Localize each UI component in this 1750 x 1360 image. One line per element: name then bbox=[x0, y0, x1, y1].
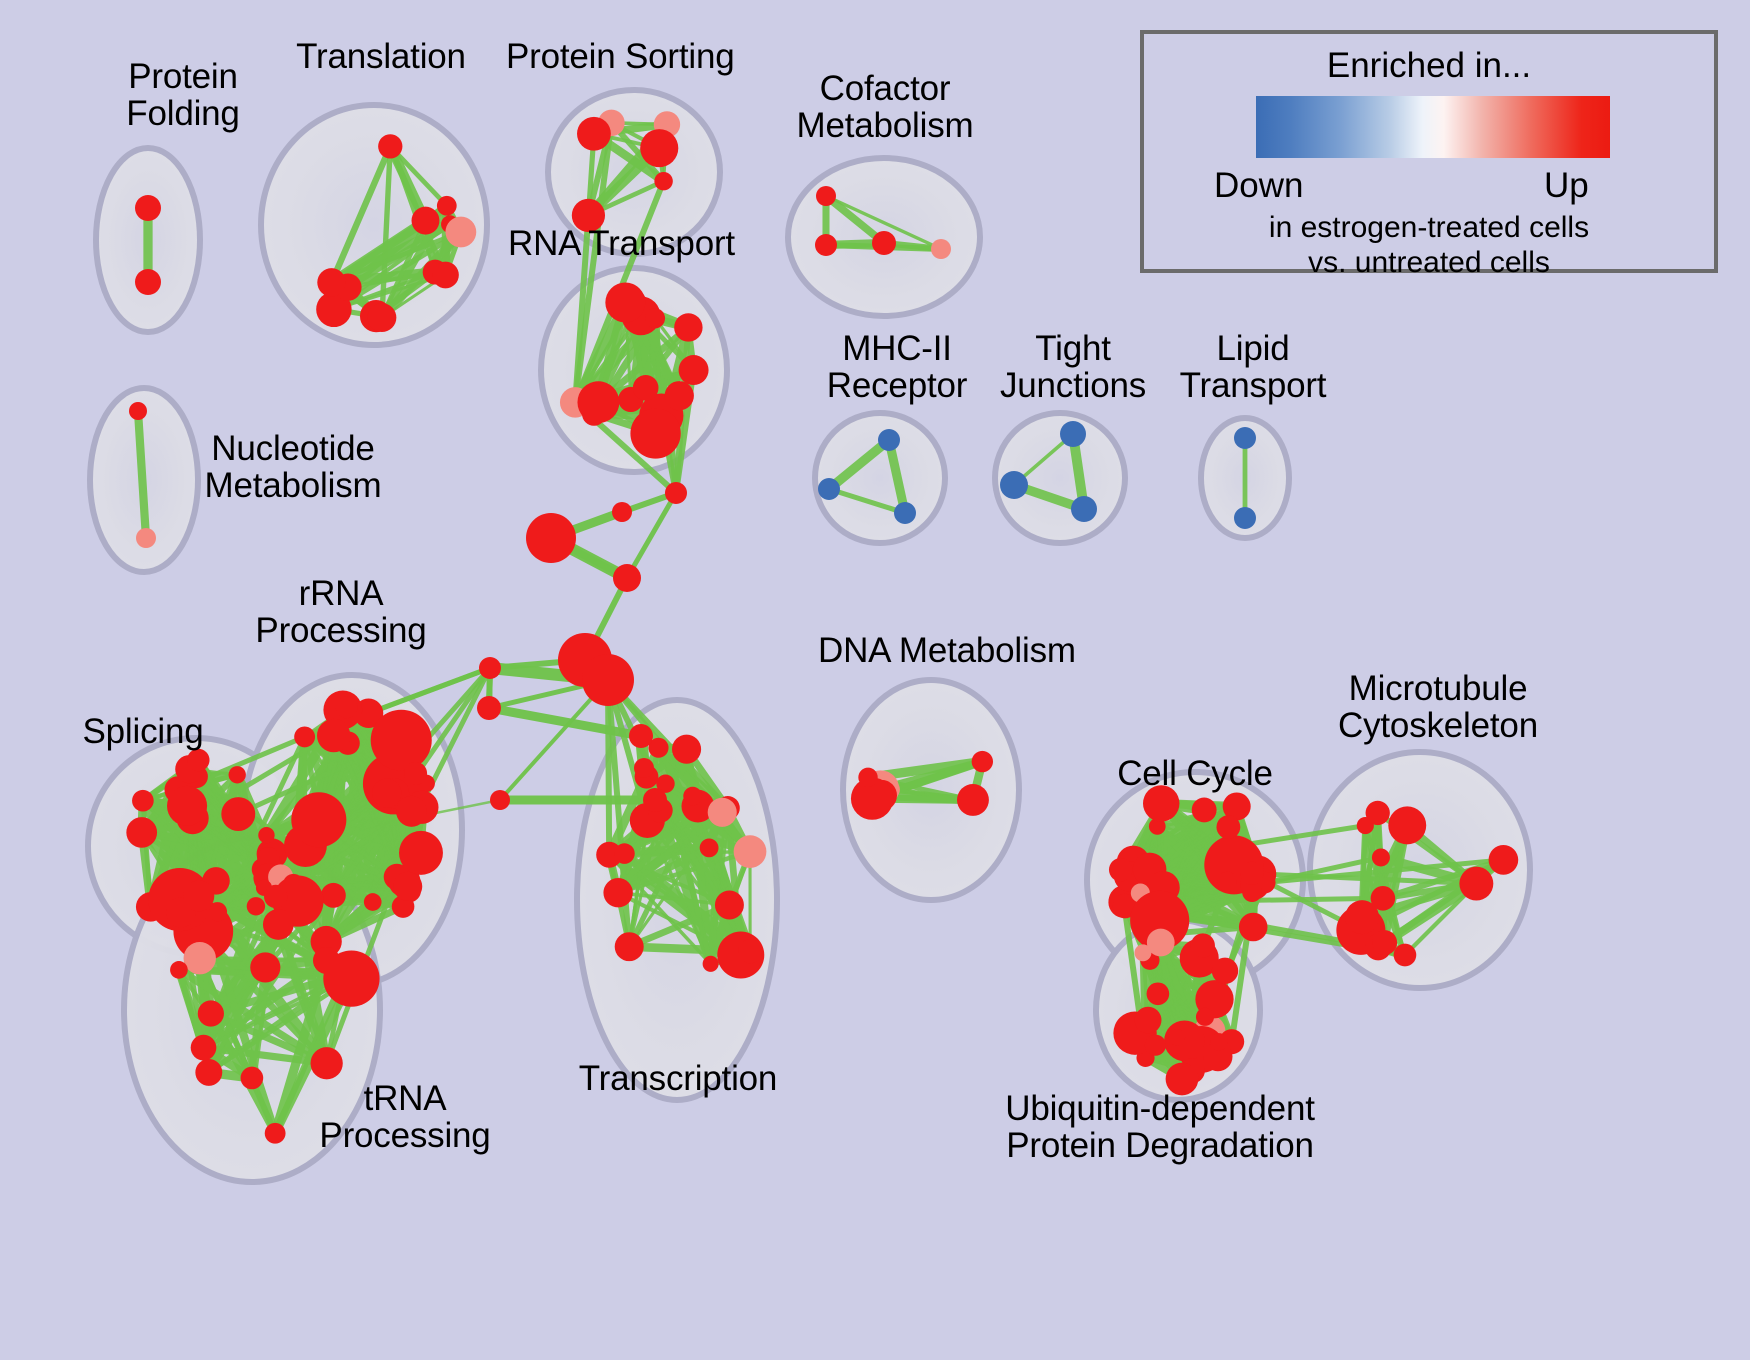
network-node bbox=[291, 792, 346, 847]
network-node bbox=[412, 207, 440, 235]
network-node bbox=[265, 1123, 286, 1144]
network-node bbox=[132, 790, 154, 812]
network-node bbox=[195, 1059, 222, 1086]
network-node bbox=[126, 817, 157, 848]
network-node bbox=[1240, 862, 1263, 885]
network-node bbox=[708, 798, 737, 827]
network-node bbox=[399, 831, 443, 875]
network-node bbox=[633, 375, 659, 401]
network-node bbox=[1216, 815, 1240, 839]
network-node bbox=[317, 268, 346, 297]
cluster-label-cofactor-metabolism: Cofactor Metabolism bbox=[790, 70, 980, 144]
network-node bbox=[645, 308, 665, 328]
network-node bbox=[1210, 1033, 1227, 1050]
network-node bbox=[679, 355, 709, 385]
network-node bbox=[1191, 933, 1215, 957]
network-node bbox=[1147, 982, 1170, 1005]
network-node bbox=[577, 117, 611, 151]
network-node bbox=[167, 786, 207, 826]
network-node bbox=[1218, 872, 1237, 891]
network-node bbox=[1169, 1029, 1185, 1045]
network-node bbox=[136, 528, 156, 548]
cluster-label-rrna-processing: rRNA Processing bbox=[246, 575, 436, 649]
network-node bbox=[1212, 958, 1238, 984]
network-node bbox=[1234, 507, 1256, 529]
network-node bbox=[1242, 882, 1262, 902]
network-node bbox=[629, 724, 653, 748]
network-node bbox=[479, 657, 501, 679]
network-node bbox=[614, 843, 635, 864]
network-node bbox=[931, 239, 951, 259]
network-node bbox=[393, 872, 422, 901]
network-node bbox=[630, 408, 680, 458]
legend-color-gradient-bar bbox=[1256, 96, 1610, 158]
network-node bbox=[1234, 427, 1256, 449]
cluster-label-trna-processing: tRNA Processing bbox=[310, 1080, 500, 1154]
network-node bbox=[894, 502, 916, 524]
network-node bbox=[703, 956, 719, 972]
network-node bbox=[1060, 421, 1086, 447]
cluster-label-rna-transport: RNA Transport bbox=[508, 225, 733, 262]
network-node bbox=[816, 186, 836, 206]
network-node bbox=[634, 758, 654, 778]
network-node bbox=[323, 950, 379, 1006]
network-node bbox=[1372, 848, 1390, 866]
network-node bbox=[818, 478, 840, 500]
legend-subtitle-line2: vs. untreated cells bbox=[1144, 245, 1714, 280]
network-node bbox=[437, 196, 457, 216]
network-node bbox=[490, 790, 510, 810]
cluster-label-ubiquitin-degradation: Ubiquitin-dependent Protein Degradation bbox=[1000, 1090, 1320, 1164]
network-node bbox=[582, 654, 634, 706]
network-node bbox=[872, 231, 896, 255]
network-node bbox=[191, 1035, 217, 1061]
cluster-label-dna-metabolism: DNA Metabolism bbox=[818, 632, 1058, 669]
network-node bbox=[577, 381, 619, 423]
network-node bbox=[372, 779, 401, 808]
network-node bbox=[672, 735, 701, 764]
network-node bbox=[294, 726, 315, 747]
network-node bbox=[700, 838, 719, 857]
legend-up-label: Up bbox=[1544, 166, 1589, 206]
network-node bbox=[613, 564, 641, 592]
network-node bbox=[615, 932, 644, 961]
network-node bbox=[1000, 471, 1028, 499]
network-node bbox=[135, 269, 161, 295]
network-node bbox=[477, 696, 501, 720]
network-node bbox=[258, 827, 274, 843]
network-node bbox=[321, 883, 346, 908]
cluster-label-lipid-transport: Lipid Transport bbox=[1168, 330, 1338, 404]
network-node bbox=[184, 942, 216, 974]
cluster-label-splicing: Splicing bbox=[58, 713, 228, 750]
network-node bbox=[957, 784, 989, 816]
network-node bbox=[311, 1047, 343, 1079]
network-node bbox=[183, 880, 214, 911]
legend-subtitle: in estrogen-treated cells vs. untreated … bbox=[1144, 210, 1714, 281]
network-node bbox=[378, 134, 402, 158]
network-node bbox=[336, 697, 358, 719]
network-node bbox=[264, 885, 287, 908]
network-node bbox=[263, 909, 294, 940]
network-node bbox=[135, 195, 161, 221]
cluster-label-transcription: Transcription bbox=[578, 1060, 778, 1097]
network-node bbox=[858, 768, 877, 787]
network-node bbox=[605, 283, 645, 323]
network-node bbox=[612, 502, 632, 522]
network-node bbox=[247, 897, 265, 915]
cluster-label-nucleotide-metabolism: Nucleotide Metabolism bbox=[198, 430, 388, 504]
network-node bbox=[187, 749, 209, 771]
network-node bbox=[715, 890, 744, 919]
network-node bbox=[1135, 1007, 1162, 1034]
cluster-label-mhc-ii-receptor: MHC-II Receptor bbox=[812, 330, 982, 404]
cluster-label-tight-junctions: Tight Junctions bbox=[988, 330, 1158, 404]
network-node bbox=[1388, 806, 1426, 844]
network-node bbox=[371, 710, 432, 771]
network-node bbox=[1394, 944, 1417, 967]
network-node bbox=[665, 482, 687, 504]
network-node bbox=[665, 381, 694, 410]
cluster-ellipse-mhc-ii-receptor bbox=[815, 413, 945, 543]
network-node bbox=[738, 939, 762, 963]
network-node bbox=[603, 878, 632, 907]
network-node bbox=[241, 1067, 264, 1090]
cluster-label-protein-folding: Protein Folding bbox=[88, 58, 278, 132]
legend-box: Enriched in... Down Up in estrogen-treat… bbox=[1140, 30, 1718, 273]
network-node bbox=[878, 429, 900, 451]
network-node bbox=[1109, 858, 1133, 882]
cluster-label-protein-sorting: Protein Sorting bbox=[506, 38, 731, 75]
cluster-label-microtubule-cytoskeleton: Microtubule Cytoskeleton bbox=[1318, 670, 1558, 744]
network-node bbox=[364, 893, 382, 911]
network-node bbox=[526, 513, 576, 563]
cluster-label-translation: Translation bbox=[286, 38, 476, 75]
network-node bbox=[368, 303, 397, 332]
network-node bbox=[1489, 845, 1519, 875]
network-node bbox=[250, 952, 280, 982]
network-node bbox=[396, 796, 427, 827]
network-node bbox=[198, 1000, 224, 1026]
network-node bbox=[1459, 867, 1493, 901]
legend-subtitle-line1: in estrogen-treated cells bbox=[1144, 210, 1714, 245]
network-node bbox=[317, 719, 350, 752]
legend-title: Enriched in... bbox=[1144, 46, 1714, 86]
network-node bbox=[1145, 1035, 1166, 1056]
network-node bbox=[1366, 801, 1390, 825]
network-node bbox=[654, 172, 672, 190]
network-node bbox=[432, 262, 459, 289]
network-node bbox=[1345, 900, 1379, 934]
network-node bbox=[815, 234, 837, 256]
network-node bbox=[221, 797, 255, 831]
cluster-label-cell-cycle: Cell Cycle bbox=[1110, 755, 1280, 792]
network-node bbox=[129, 402, 147, 420]
legend-down-label: Down bbox=[1214, 166, 1303, 206]
enrichment-network-figure: Protein FoldingTranslationProtein Sortin… bbox=[0, 0, 1750, 1360]
network-node bbox=[683, 787, 702, 806]
network-node bbox=[1192, 797, 1217, 822]
network-node bbox=[1372, 930, 1397, 955]
network-node bbox=[640, 129, 678, 167]
network-node bbox=[1071, 496, 1097, 522]
network-node bbox=[229, 766, 246, 783]
network-node bbox=[643, 788, 667, 812]
network-node bbox=[404, 762, 427, 785]
network-node bbox=[1134, 944, 1151, 961]
network-node bbox=[674, 313, 702, 341]
network-node bbox=[1239, 913, 1268, 942]
network-node bbox=[170, 961, 188, 979]
network-node bbox=[445, 217, 476, 248]
network-node bbox=[972, 751, 993, 772]
network-node bbox=[734, 835, 767, 868]
network-node bbox=[1196, 1008, 1214, 1026]
